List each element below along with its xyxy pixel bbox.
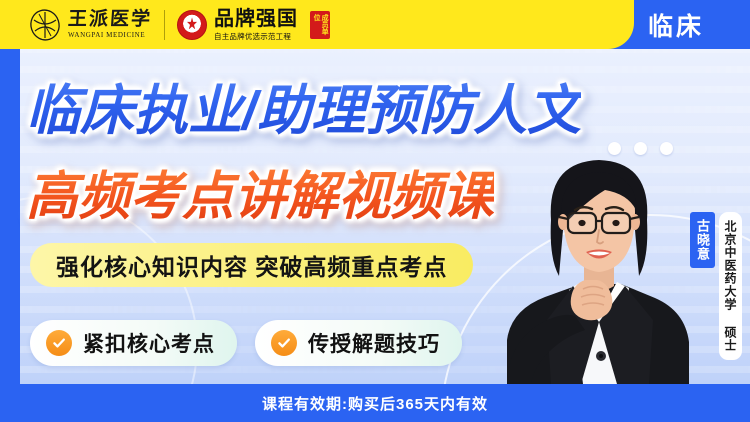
logo-divider xyxy=(164,10,165,40)
teacher-name-tags: 古晓意 北京中医药大学 硕士 xyxy=(690,212,742,360)
headline-line-1: 临床执业/助理预防人文 xyxy=(26,66,581,145)
feature-label-1: 紧扣核心考点 xyxy=(83,328,215,358)
headline-line-2: 高频考点讲解视频课 xyxy=(26,154,494,229)
dot-3 xyxy=(660,142,673,155)
decorative-dots xyxy=(608,142,673,155)
seal-icon xyxy=(177,10,207,40)
course-promo-banner: 临床 王派医学 WANGPAI MEDICINE 品牌强 xyxy=(0,0,750,422)
teacher-portrait-illustration xyxy=(489,134,704,384)
feature-label-2: 传授解题技巧 xyxy=(308,328,440,358)
feature-badge-list: 紧扣核心考点 传授解题技巧 xyxy=(30,320,462,366)
feature-badge-1: 紧扣核心考点 xyxy=(30,320,237,366)
brand-power-name: 品牌强国 xyxy=(214,9,298,29)
wangpai-name-en: WANGPAI MEDICINE xyxy=(68,32,152,39)
brand-logo-bar: 王派医学 WANGPAI MEDICINE 品牌强国 自主品牌优选示范工程 成员… xyxy=(0,0,634,49)
brand-power-logo: 品牌强国 自主品牌优选示范工程 成员单位 xyxy=(177,9,330,41)
subtitle-pill: 强化核心知识内容 突破高频重点考点 xyxy=(30,243,473,287)
wangpai-name-cn: 王派医学 xyxy=(67,10,152,29)
wangpai-wordmark: 王派医学 WANGPAI MEDICINE xyxy=(68,10,152,39)
wangpai-emblem-icon xyxy=(28,8,62,42)
subtitle-text: 强化核心知识内容 突破高频重点考点 xyxy=(56,248,447,282)
teacher-photo xyxy=(489,134,704,384)
validity-text: 课程有效期:购买后365天内有效 xyxy=(262,393,488,414)
dot-1 xyxy=(608,142,621,155)
teacher-credential: 北京中医药大学 硕士 xyxy=(719,212,742,360)
feature-badge-2: 传授解题技巧 xyxy=(255,320,462,366)
category-label: 临床 xyxy=(648,7,704,43)
brand-power-tag: 成员单位 xyxy=(310,11,330,39)
check-circle-icon xyxy=(271,330,297,356)
check-circle-icon xyxy=(46,330,72,356)
brand-power-subtitle: 自主品牌优选示范工程 xyxy=(214,33,298,41)
left-blue-rail xyxy=(0,46,20,384)
brand-power-wordmark: 品牌强国 自主品牌优选示范工程 xyxy=(214,9,298,41)
wangpai-logo: 王派医学 WANGPAI MEDICINE xyxy=(28,8,152,42)
teacher-name: 古晓意 xyxy=(690,212,715,268)
dot-2 xyxy=(634,142,647,155)
validity-footer: 课程有效期:购买后365天内有效 xyxy=(0,384,750,422)
